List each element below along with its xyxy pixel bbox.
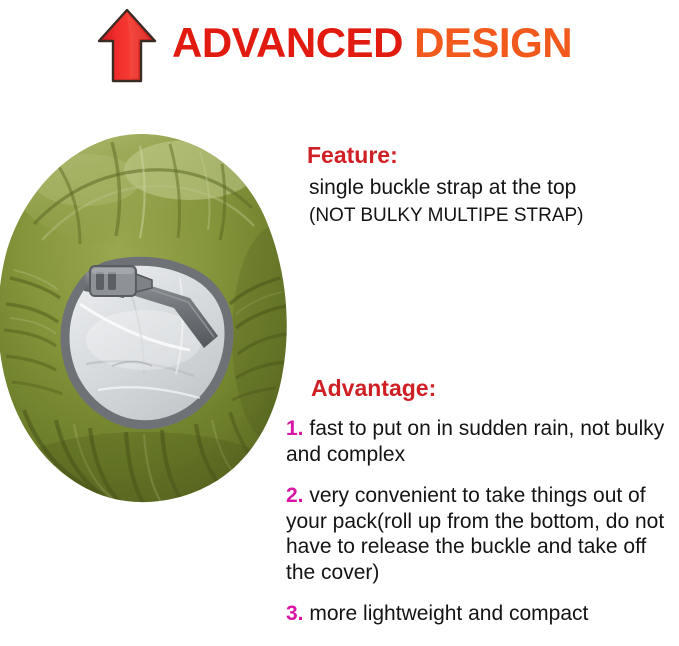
up-arrow-icon [97, 9, 159, 84]
list-item-number: 1. [286, 417, 304, 440]
list-item: 3. more lightweight and compact [286, 601, 679, 627]
product-image-rain-cover [0, 128, 306, 510]
page-title: ADVANCED DESIGN [172, 18, 572, 68]
page-title-word-1: ADVANCED [172, 19, 403, 66]
list-item-text: very convenient to take things out of yo… [286, 484, 664, 584]
advantage-heading: Advantage: [311, 375, 436, 402]
list-item-text: more lightweight and compact [309, 602, 588, 625]
feature-line-secondary: (NOT BULKY MULTIPE STRAP) [309, 202, 679, 230]
list-item-text: fast to put on in sudden rain, not bulky… [286, 417, 664, 466]
list-item-number: 2. [286, 484, 304, 507]
feature-heading: Feature: [307, 142, 398, 169]
page-title-word-2: DESIGN [414, 19, 572, 66]
list-item-number: 3. [286, 602, 304, 625]
list-item: 1. fast to put on in sudden rain, not bu… [286, 416, 679, 467]
advantage-list: 1. fast to put on in sudden rain, not bu… [286, 416, 679, 627]
infographic-page: ADVANCED DESIGN [0, 0, 679, 646]
header-banner: ADVANCED DESIGN [0, 0, 679, 100]
feature-line-primary: single buckle strap at the top [309, 174, 679, 202]
feature-text-block: single buckle strap at the top (NOT BULK… [309, 174, 679, 230]
list-item: 2. very convenient to take things out of… [286, 483, 679, 585]
